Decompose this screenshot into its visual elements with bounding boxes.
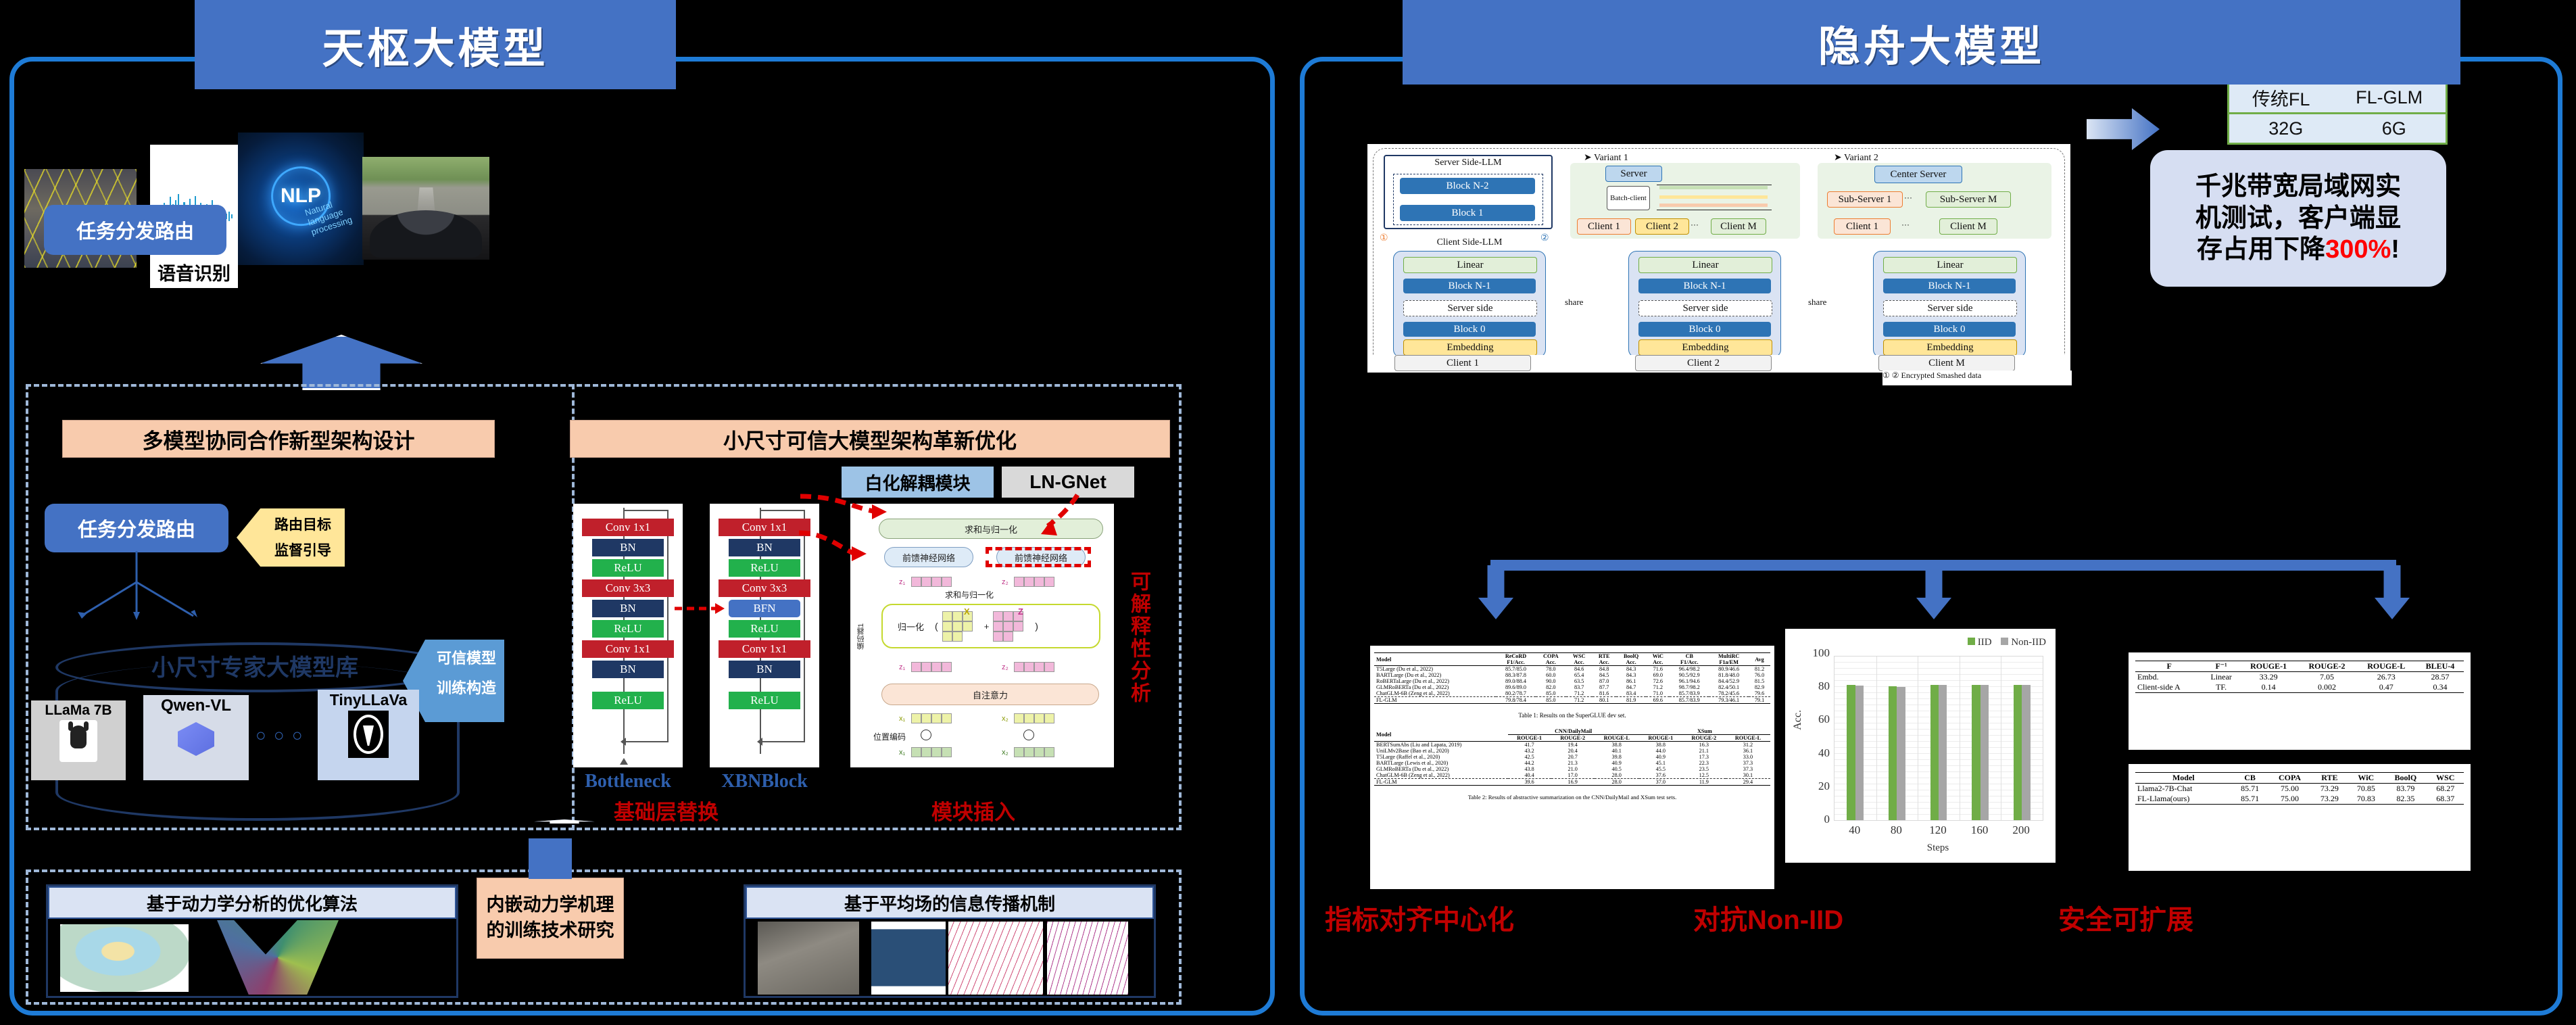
model-card-tinyllava[interactable]: TinyLLaVa [318, 690, 419, 780]
table-cell: Embd. [2135, 672, 2203, 683]
table-cell: 37.6 [1639, 772, 1682, 779]
router-callout-line2: 监督引导 [261, 538, 345, 564]
bar-group [1972, 657, 1989, 820]
red-label-scalable: 安全可扩展 [2058, 898, 2193, 937]
encoder-label: 编码器1 [856, 569, 868, 650]
qwen-icon [172, 717, 220, 761]
table-cell: 40.5 [1595, 766, 1639, 772]
norm-label: 归一化 [898, 620, 924, 633]
table-cell: 88.3/87.8 [1496, 672, 1536, 678]
fl-comparison-table: 传统FL FL-GLM 32G 6G [2227, 81, 2448, 145]
table-cell: 65.4 [1566, 672, 1593, 678]
saddle-surface-image [217, 920, 339, 995]
table-row: T5Large (Raffel et al., 2020)42.520.739.… [1374, 754, 1770, 760]
table-cell: 78.2/45.6 [1709, 690, 1749, 697]
right-panel-title-banner: 隐舟大模型 [1403, 0, 2460, 85]
dynamics-optimization-title: 基于动力学分析的优化算法 [48, 886, 456, 919]
callout-line3-pre: 存占用下降 [2197, 235, 2325, 264]
th-cb: CBF1/Acc. [1670, 653, 1709, 666]
table-cell: 70.83 [2348, 794, 2384, 805]
callout-line1: 千兆带宽局域网实 [2195, 171, 2401, 202]
table-cell: 11.9 [1682, 779, 1726, 786]
x-tick-label: 40 [1834, 824, 1876, 838]
table-cell: 80.2/78.7 [1496, 690, 1536, 697]
table-cell: 28.57 [2416, 672, 2464, 683]
table-cell: 81.5 [1749, 678, 1770, 684]
table-cell: T5Large (Du et al., 2022) [1374, 666, 1496, 673]
table-cell: 43.2 [1508, 748, 1551, 754]
pos-plus-icon-2 [1023, 730, 1034, 740]
loss-landscape-image [60, 924, 189, 992]
bar [1930, 685, 1939, 820]
table-summarization: Model CNN/DailyMail XSum ROUGE-1 ROUGE-2… [1374, 728, 1770, 786]
table-row: BARTLarge (Du et al., 2022)88.3/87.860.0… [1374, 672, 1770, 678]
table2-caption: Table 2: Results of abstractive summariz… [1374, 794, 1770, 801]
variant1-batch-client: Batch-client [1607, 186, 1650, 210]
table-row: UniLMv2Base (Bao et al., 2020)43.220.440… [1374, 748, 1770, 754]
table-cell: 83.4 [1616, 690, 1646, 697]
th2-r1b: ROUGE-1 [1639, 735, 1682, 742]
table-row: FL-GLM79.8/78.485.071.280.181.969.685.7/… [1374, 697, 1770, 704]
self-attention-row: 自注意力 [881, 684, 1099, 705]
bottleneck-layer-5: ReLU [592, 620, 664, 638]
client-stack-2: Linear Block N-1 Server side Block 0 Emb… [1628, 251, 1781, 358]
model-label-qwen: Qwen-VL [143, 695, 249, 715]
bar-group [1847, 657, 1864, 820]
token-cells-x2-attn [1014, 713, 1054, 723]
model-ellipsis: ○ ○ ○ [256, 725, 314, 745]
token-cells-x1-in [911, 747, 952, 757]
token-cells-x2-in [1014, 747, 1054, 757]
clientm-linear: Linear [1883, 257, 2017, 273]
variant2-sub-server-1: Sub-Server 1 [1827, 191, 1903, 208]
table-row: Model ReCoRDF1/Acc. COPAAcc. WSCAcc. RTE… [1374, 653, 1770, 666]
table-cell: 22.3 [1682, 760, 1726, 766]
table-cell: 21.1 [1682, 748, 1726, 754]
model-label-tinyllava: TinyLLaVa [318, 690, 419, 709]
plus-sign: + [984, 621, 990, 631]
table-cell: 84.6 [1566, 666, 1593, 673]
bottleneck-layer-8: ReLU [592, 692, 664, 709]
th2-model: Model [1374, 728, 1508, 742]
variant1-server: Server [1605, 166, 1662, 182]
table-cell: 21.0 [1551, 766, 1595, 772]
client-stack-1: Linear Block N-1 Server side Block 0 Emb… [1393, 251, 1546, 358]
table-cell: Linear [2203, 672, 2239, 683]
model-label-llama: LLaMa 7B [31, 700, 126, 719]
table-row: RoBERTaLarge (Du et al., 2022)89.0/88.49… [1374, 678, 1770, 684]
router-callout-text: 路由目标 监督引导 [261, 512, 345, 564]
xbn-layer-0: Conv 1x1 [719, 519, 810, 536]
table-ablation: FF⁻¹ROUGE-1ROUGE-2ROUGE-LBLEU-4 Embd.Lin… [2135, 661, 2464, 693]
table-cell: 37.0 [1639, 779, 1682, 786]
gridline [1960, 657, 1960, 820]
x-tick-label: 80 [1876, 824, 1918, 838]
client1-block-0: Block 0 [1403, 322, 1536, 337]
performance-callout: 千兆带宽局域网实 机测试，客户端显 存占用下降300%! [2150, 150, 2446, 287]
xbnblock-name: XBNBlock [710, 771, 819, 792]
table-cell: 19.4 [1551, 742, 1595, 748]
bar [1897, 687, 1905, 820]
paren-close: ) [1035, 621, 1038, 631]
th-copa: COPAAcc. [1536, 653, 1566, 666]
table-cell: 20.4 [1551, 748, 1595, 754]
table-row: ChatGLM-6B (Zeng et al., 2022)40.417.028… [1374, 772, 1770, 779]
callout-line3: 存占用下降300%! [2195, 234, 2401, 265]
table-cell: 40.4 [1508, 772, 1551, 779]
table-cell: FL-Llama(ours) [2135, 794, 2232, 805]
table-cell: 43.8 [1508, 766, 1551, 772]
table-cell: 40.9 [1595, 760, 1639, 766]
interpretability-label: 可解释性分析 [1123, 571, 1153, 773]
table-cell: BARTLarge (Du et al., 2022) [1374, 672, 1496, 678]
xbn-layer-8: ReLU [729, 692, 801, 709]
table-cell: 28.0 [1595, 779, 1639, 786]
table-cell: 71.2 [1646, 684, 1670, 690]
section-b-title: 小尺寸可信大模型架构革新优化 [570, 420, 1170, 458]
table-cell: 33.29 [2239, 672, 2298, 683]
compare-value-row: 32G 6G [2229, 114, 2446, 143]
bottleneck-layer-7: BN [592, 661, 664, 678]
autonomous-driving-image [362, 157, 489, 260]
table-cell: 28.0 [1595, 772, 1639, 779]
table-cell: 71.0 [1646, 690, 1670, 697]
bottleneck-layer-0: Conv 1x1 [582, 519, 674, 536]
xbn-layer-2: ReLU [729, 559, 801, 577]
token-x2-in: x₂ [1002, 748, 1008, 757]
th2-rlb: ROUGE-L [1726, 735, 1770, 742]
table-cell: 0.34 [2416, 682, 2464, 693]
token-z1-top: z₁ [899, 578, 905, 586]
repo-callout-line1: 可信模型 [426, 644, 507, 673]
table-cell: Client-side A [2135, 682, 2203, 693]
share-label-2: share [1808, 297, 1826, 308]
client-name-2: Client 2 [1635, 355, 1772, 371]
variant2-client-m: Client M [1939, 218, 1997, 235]
th-model: Model [1374, 653, 1496, 666]
table-cell: 0.002 [2298, 682, 2356, 693]
bottleneck-block: Conv 1x1 BN ReLU Conv 3x3 BN ReLU Conv 1… [573, 504, 683, 767]
token-cells-z2-mid [1014, 662, 1054, 672]
client-stack-m: Linear Block N-1 Server side Block 0 Emb… [1873, 251, 2026, 358]
v1-bar-yellow [1659, 195, 1768, 199]
table-row: T5Large (Du et al., 2022)85.7/85.078.084… [1374, 666, 1770, 673]
router-button-main[interactable]: 任务分发路由 [45, 504, 228, 552]
table-cell: 63.5 [1566, 678, 1593, 684]
table-cell: 30.1 [1726, 772, 1770, 779]
table-cell: 60.0 [1536, 672, 1566, 678]
th-multirc: MultiRCF1a/EM [1709, 653, 1749, 666]
table-row: ChatGLM-6B (Zeng et al., 2022)80.2/78.78… [1374, 690, 1770, 697]
table-cell: 16.9 [1551, 779, 1595, 786]
variant1-label: ➤ Variant 1 [1584, 152, 1628, 164]
table-cell: 45.1 [1639, 760, 1682, 766]
nlp-concept-image: NLP Natural language processing [238, 133, 364, 265]
xbn-layer-7: BN [729, 661, 801, 678]
table-cell: 82.0 [1536, 684, 1566, 690]
bar [1847, 685, 1855, 820]
bar-group [1930, 657, 1947, 820]
table-cell: 81.9 [1616, 697, 1646, 704]
v1-bar-orange [1659, 204, 1768, 207]
th2-group1: CNN/DailyMail [1508, 728, 1639, 735]
table-cell: 33.0 [1726, 754, 1770, 760]
model-card-llama[interactable]: LLaMa 7B [31, 700, 126, 780]
server-side-llm-title: Server Side-LLM [1384, 158, 1553, 172]
bottleneck-layer-4: BN [592, 600, 664, 617]
table-cell: 70.85 [2348, 784, 2384, 794]
table-cell: RoBERTaLarge (Du et al., 2022) [1374, 678, 1496, 684]
meanfield-title: 基于平均场的信息传播机制 [746, 886, 1154, 919]
bar [1939, 685, 1947, 820]
table-cell: 84.3 [1616, 672, 1646, 678]
dynamics-training-line1: 内嵌动力学机理 [487, 892, 614, 918]
chart-legend: IID Non-IID [1968, 637, 2046, 648]
x-matrix [942, 611, 980, 642]
model-repo-title: 小尺寸专家大模型库 [55, 649, 454, 680]
table-cell: 85.71 [2232, 784, 2268, 794]
table-cell: 79.3/46.1 [1709, 697, 1749, 704]
table-row: Llama2-7B-Chat85.7175.0073.2970.8583.796… [2135, 784, 2464, 794]
table-cell: 29.4 [1726, 779, 1770, 786]
table-cell: 40.1 [1595, 748, 1639, 754]
table-cell: 90.0 [1536, 678, 1566, 684]
chart-yticks: 100806040200 [1800, 653, 1830, 819]
chart-plot-area [1834, 656, 2043, 821]
table-header-cell: ROUGE-L [2356, 661, 2416, 672]
red-label-centralization: 指标对齐中心化 [1325, 898, 1514, 937]
table-cell: 84.5 [1593, 672, 1616, 678]
norm-row: 归一化 ( + ) [881, 604, 1100, 648]
table-cell: 12.5 [1682, 772, 1726, 779]
federated-learning-diagram: Server Side-LLM Block N-2 Block 1 ① ② ➤ … [1367, 144, 2070, 373]
table-header-cell: CB [2232, 773, 2268, 784]
bar [1980, 685, 1989, 820]
table-header-cell: COPA [2268, 773, 2312, 784]
table-cell: 71.6 [1646, 666, 1670, 673]
client-name-row: Client 1 Client 2 Client M [1367, 355, 2070, 371]
table-cell: 87.7 [1593, 684, 1616, 690]
variant1-client-1: Client 1 [1577, 218, 1631, 235]
variant2-client-1: Client 1 [1834, 218, 1891, 235]
table-cell: 85.0 [1536, 697, 1566, 704]
table-cell: 83.7 [1566, 684, 1593, 690]
accuracy-bar-chart: IID Non-IID Acc. 100806040200 4080120160… [1785, 629, 2056, 863]
table-cell: 44.0 [1639, 748, 1682, 754]
token-z1-mid: z₁ [899, 663, 905, 671]
bar [1889, 686, 1897, 820]
bar [2022, 685, 2030, 820]
compare-header-traditional: 传统FL [2252, 85, 2310, 111]
legend-iid: IID [1978, 637, 1992, 648]
th2-group2: XSum [1639, 728, 1770, 735]
gridline [2001, 657, 2001, 820]
table-row: GLMRoBERTa (Du et al., 2022)43.821.040.5… [1374, 766, 1770, 772]
bottleneck-layer-3: Conv 3x3 [582, 579, 674, 597]
table-cell: 42.5 [1508, 754, 1551, 760]
steering-wheel [370, 210, 481, 258]
whitening-to-transformer-arrows [798, 491, 953, 579]
table-cell: 89.6/89.0 [1496, 684, 1536, 690]
base-replacement-label: 基础层替换 [614, 795, 719, 826]
left-panel-title-banner: 天枢大模型 [195, 0, 676, 89]
table-cell: 98.7/98.2 [1670, 684, 1709, 690]
table-cell: 45.5 [1639, 766, 1682, 772]
table-row: Model CNN/DailyMail XSum [1374, 728, 1770, 735]
xbn-layer-6: Conv 1x1 [719, 640, 810, 658]
client1-block-n1: Block N-1 [1403, 279, 1536, 293]
red-label-noniid: 对抗Non-IID [1693, 898, 1843, 937]
table-cell: 72.6 [1646, 678, 1670, 684]
dynamics-up-connector [529, 838, 572, 879]
th2-rla: ROUGE-L [1595, 735, 1639, 742]
table-cell: TF. [2203, 682, 2239, 693]
server-block-1: Block 1 [1400, 205, 1535, 221]
table-cell: 17.3 [1682, 754, 1726, 760]
th-boolq: BoolQAcc. [1616, 653, 1646, 666]
repo-callout-line2: 训练构造 [426, 673, 507, 703]
distribution-bus [1490, 560, 2396, 571]
compare-header-flglm: FL-GLM [2356, 87, 2423, 108]
table-cell: ChatGLM-6B (Zeng et al., 2022) [1374, 690, 1496, 697]
table-superglue: Model ReCoRDF1/Acc. COPAAcc. WSCAcc. RTE… [1374, 652, 1770, 704]
xbn-layer-5: ReLU [729, 620, 801, 638]
table-cell: 39.8 [1595, 754, 1639, 760]
encrypted-smashed-footnote: ① ② Encrypted Smashed data [1882, 371, 2072, 385]
token-cells-z2-top [1014, 577, 1054, 587]
table-row: ModelCBCOPARTEWiCBoolQWSC [2135, 773, 2464, 784]
table-cell: 69.0 [1646, 672, 1670, 678]
bar-group [2014, 657, 2031, 820]
table-cell: 21.3 [1551, 760, 1595, 766]
table-cell: 68.27 [2427, 784, 2464, 794]
th-avg: Avg [1749, 653, 1770, 666]
th2-r2b: ROUGE-2 [1682, 735, 1726, 742]
router-callout-line1: 路由目标 [261, 512, 345, 538]
router-connectors [41, 551, 243, 646]
table-row: BERTSumAbs (Liu and Lapata, 2019)41.719.… [1374, 742, 1770, 748]
table-cell: 44.2 [1508, 760, 1551, 766]
variant2-center-server: Center Server [1874, 166, 1962, 183]
xbn-layer-4: BFN [729, 600, 801, 617]
table-cell: 73.29 [2311, 794, 2348, 805]
speech-recognition-label: 语音识别 [150, 259, 238, 285]
table-cell: 68.37 [2427, 794, 2464, 805]
table-cell: 89.0/88.4 [1496, 678, 1536, 684]
token-x2-attn: x₂ [1002, 715, 1008, 723]
results-tables-panel: Model ReCoRDF1/Acc. COPAAcc. WSCAcc. RTE… [1370, 646, 1774, 889]
z-matrix [993, 611, 1031, 642]
th2-r2a: ROUGE-2 [1551, 735, 1595, 742]
bottleneck-name: Bottleneck [573, 771, 683, 792]
variant1-client-m: Client M [1711, 218, 1766, 235]
token-cells-z1-mid [911, 662, 952, 672]
bar-group [1889, 657, 1905, 820]
table-cell: FL-GLM [1374, 697, 1496, 704]
client2-block-n1: Block N-1 [1638, 279, 1771, 293]
x-tick-label: 160 [1959, 824, 2001, 838]
table-header-cell: ROUGE-2 [2298, 661, 2356, 672]
compare-header-row: 传统FL FL-GLM [2229, 83, 2446, 114]
x-tick-label: 120 [1917, 824, 1959, 838]
table-row: FL-Llama(ours)85.7175.0073.2970.8382.356… [2135, 794, 2464, 805]
th-record: ReCoRDF1/Acc. [1496, 653, 1536, 666]
table-cell: 90.5/92.9 [1670, 672, 1709, 678]
table-cell: 87.0 [1593, 678, 1616, 684]
table-cell: 31.2 [1726, 742, 1770, 748]
table-cell: UniLMv2Base (Bao et al., 2020) [1374, 748, 1508, 754]
table-cell: 96.1/94.6 [1670, 678, 1709, 684]
table-cell: 20.7 [1551, 754, 1595, 760]
variant2-dots: ··· [1904, 193, 1912, 202]
model-card-qwen[interactable]: Qwen-VL [143, 695, 249, 780]
table-cell: 23.5 [1682, 766, 1726, 772]
table-cell: 84.7 [1616, 684, 1646, 690]
table-header-cell: BLEU-4 [2416, 661, 2464, 672]
xbn-layer-1: BN [729, 539, 801, 556]
table-cell: 79.8/78.4 [1496, 697, 1536, 704]
table-cell: 7.05 [2298, 672, 2356, 683]
client1-serverside: Server side [1403, 300, 1537, 316]
chart-xticks: 4080120160200 [1834, 824, 2042, 838]
table-cell: 84.4/52.9 [1709, 678, 1749, 684]
table-cell: 85.7/85.0 [1496, 666, 1536, 673]
table-header-cell: BoolQ [2384, 773, 2427, 784]
x-tick-label: 200 [2000, 824, 2042, 838]
table-cell: 0.47 [2356, 682, 2416, 693]
token-z2-top: z₂ [1002, 578, 1008, 586]
y-tick-label: 0 [1800, 819, 1830, 853]
token-x1-in: x₁ [899, 748, 905, 757]
table-cell: 85.71 [2232, 794, 2268, 805]
table-cell: 37.3 [1726, 760, 1770, 766]
router-button[interactable]: 任务分发路由 [44, 205, 226, 255]
client2-serverside: Server side [1638, 300, 1772, 316]
client-side-llm-title: Client Side-LLM [1385, 237, 1554, 251]
table-cell: 75.00 [2268, 794, 2312, 805]
clientm-serverside: Server side [1883, 300, 2017, 316]
fan-plot-image-2 [1047, 922, 1128, 995]
table-row: GLMRoBERTa (Du et al., 2022)89.6/89.082.… [1374, 684, 1770, 690]
phase-plot-image [871, 922, 946, 995]
table-cell: 17.0 [1551, 772, 1595, 779]
table-cell: 39.6 [1508, 779, 1551, 786]
table-cell: 86.1 [1616, 678, 1646, 684]
lngnet-to-ffn-arrow [1025, 494, 1106, 550]
ablation-table-panel: FF⁻¹ROUGE-1ROUGE-2ROUGE-LBLEU-4 Embd.Lin… [2129, 652, 2471, 750]
table-cell: 71.2 [1566, 697, 1593, 704]
compare-value-traditional: 32G [2268, 118, 2303, 139]
table-cell: Llama2-7B-Chat [2135, 784, 2232, 794]
client2-embedding: Embedding [1638, 339, 1772, 356]
left-panel: 天枢大模型 语音识别 NLP Natural language processi… [0, 0, 1284, 1025]
table-cell: 83.79 [2384, 784, 2427, 794]
table-cell: GLMRoBERTa (Du et al., 2022) [1374, 766, 1508, 772]
table-cell: 85.0 [1536, 690, 1566, 697]
client-name-1: Client 1 [1394, 355, 1531, 371]
share-label-1: share [1565, 297, 1583, 308]
table-header-cell: ROUGE-1 [2239, 661, 2298, 672]
token-z2-mid: z₂ [1002, 663, 1008, 671]
table-header-cell: Model [2135, 773, 2232, 784]
callout-line3-post: ! [2391, 235, 2400, 264]
th-rte: RTEAcc. [1593, 653, 1616, 666]
table-cell: 81.8/48.0 [1709, 672, 1749, 678]
chart-xlabel: Steps [1834, 842, 2042, 854]
table-cell: 76.0 [1749, 672, 1770, 678]
table-cell: 81.6 [1593, 690, 1616, 697]
table-row: BARTLarge (Lewis et al., 2020)44.221.340… [1374, 760, 1770, 766]
